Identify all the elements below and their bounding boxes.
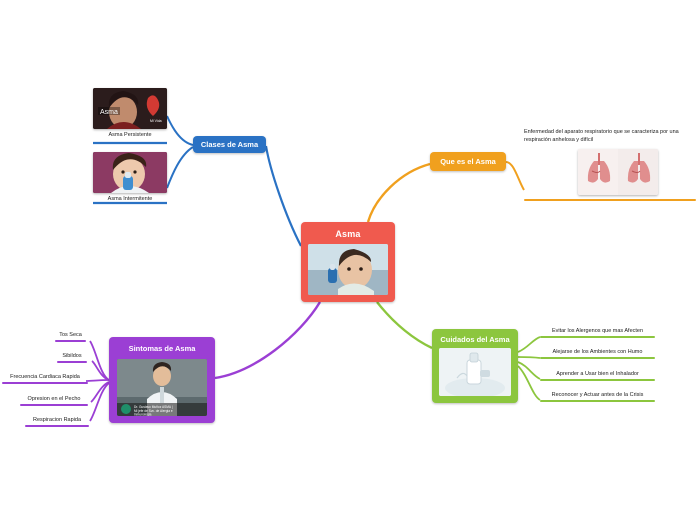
leaf-reconocer-crisis[interactable]: Reconocer y Actuar antes de la Crisis: [540, 392, 655, 402]
inhaler-photo: [439, 348, 511, 396]
svg-text:Mi Vida: Mi Vida: [150, 119, 162, 123]
leaf-aprender-inhalador-label: Aprender a Usar bien el Inhalador: [540, 371, 655, 377]
branch-clases-de-asma[interactable]: Clases de Asma: [193, 136, 266, 153]
branch-cuidados-label: Cuidados del Asma: [432, 329, 518, 344]
asma-intermitente-photo: [93, 152, 167, 193]
que-es-el-asma-description: Enfermedad del aparato respiratorio que …: [524, 128, 696, 145]
branch-clases-label: Clases de Asma: [201, 140, 258, 149]
leaf-respiracion-rapida-underline: [25, 425, 89, 427]
svg-text:Asma: Asma: [100, 109, 118, 116]
leaf-asma-persistente-label: Asma Persistente: [93, 132, 167, 138]
leaf-asma-intermitente-label: Asma Intermitente: [93, 196, 167, 202]
asma-persistente-photo: Asma Mi Vida: [93, 88, 167, 129]
leaf-respiracion-rapida[interactable]: Respiracion Rapida: [25, 417, 89, 427]
leaf-reconocer-crisis-label: Reconocer y Actuar antes de la Crisis: [540, 392, 655, 398]
leaf-sibildos-underline: [57, 361, 87, 363]
que-es-el-asma-underline: [524, 199, 696, 201]
leaf-opresion-en-el-pecho-label: Opresion en el Pecho: [20, 396, 88, 402]
leaf-evitar-alergenos-label: Evitar los Alergenos que mas Afecten: [540, 328, 655, 334]
branch-cuidados-del-asma[interactable]: Cuidados del Asma: [432, 329, 518, 403]
que-es-el-asma-info[interactable]: Enfermedad del aparato respiratorio que …: [524, 128, 696, 201]
leaf-sibildos-label: Sibildos: [57, 353, 87, 359]
leaf-sibildos[interactable]: Sibildos: [57, 353, 87, 363]
central-node-label: Asma: [301, 222, 395, 239]
branch-sintomas-de-asma[interactable]: Sintomas de Asma Dr. Gustavo Muñoz ASMA …: [109, 337, 215, 423]
lungs-diagram-photo: [578, 149, 658, 195]
mindmap-canvas: Asma Clases de Asma: [0, 0, 696, 520]
branch-sintomas-label: Sintomas de Asma: [109, 337, 215, 353]
leaf-tos-seca[interactable]: Tos Seca: [55, 332, 86, 342]
leaf-evitar-alergenos[interactable]: Evitar los Alergenos que mas Afecten: [540, 328, 655, 338]
svg-text:Inmunologia: Inmunologia: [134, 413, 152, 417]
leaf-reconocer-crisis-underline: [540, 400, 655, 402]
leaf-aprender-inhalador-underline: [540, 379, 655, 381]
leaf-frecuencia-cardiaca-rapida-label: Frecuencia Cardiaca Rapida: [2, 374, 88, 380]
leaf-frecuencia-cardiaca-rapida[interactable]: Frecuencia Cardiaca Rapida: [2, 374, 88, 384]
leaf-evitar-alergenos-underline: [540, 336, 655, 338]
leaf-alejarse-humo-underline: [540, 357, 655, 359]
leaf-respiracion-rapida-label: Respiracion Rapida: [25, 417, 89, 423]
leaf-asma-intermitente[interactable]: Asma Intermitente: [93, 152, 167, 202]
leaf-alejarse-humo[interactable]: Alejarse de los Ambientes con Humo: [540, 349, 655, 359]
leaf-tos-seca-underline: [55, 340, 86, 342]
leaf-aprender-inhalador[interactable]: Aprender a Usar bien el Inhalador: [540, 371, 655, 381]
leaf-alejarse-humo-label: Alejarse de los Ambientes con Humo: [540, 349, 655, 355]
leaf-asma-persistente[interactable]: Asma Mi Vida Asma Persistente: [93, 88, 167, 138]
doctor-explaining-photo: Dr. Gustavo Muñoz ASMA | Mi jefe de Svc.…: [117, 359, 207, 416]
leaf-tos-seca-label: Tos Seca: [55, 332, 86, 338]
leaf-opresion-en-el-pecho-underline: [20, 404, 88, 406]
branch-que-es-el-asma-label: Que es el Asma: [440, 157, 496, 166]
boy-using-inhaler-photo: [308, 244, 388, 295]
leaf-opresion-en-el-pecho[interactable]: Opresion en el Pecho: [20, 396, 88, 406]
central-node-asma[interactable]: Asma: [301, 222, 395, 302]
branch-que-es-el-asma[interactable]: Que es el Asma: [430, 152, 506, 171]
leaf-frecuencia-cardiaca-rapida-underline: [2, 382, 88, 384]
